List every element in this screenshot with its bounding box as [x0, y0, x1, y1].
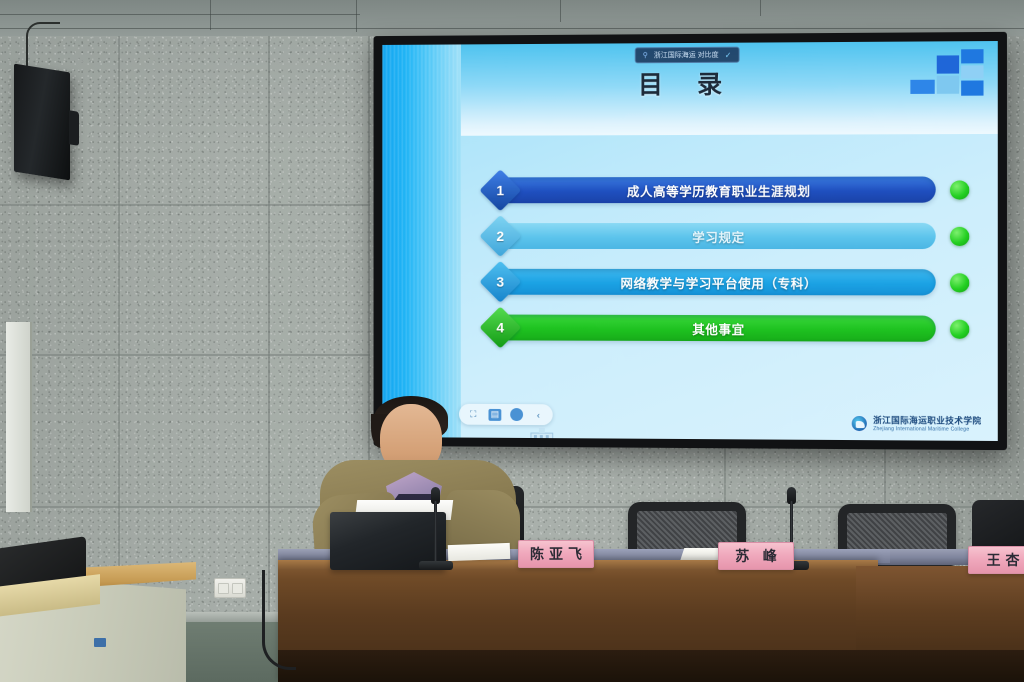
- toc-label: 学习规定: [692, 226, 744, 245]
- toc-bar[interactable]: 学习规定: [504, 223, 935, 249]
- projection-screen[interactable]: ⚲ 浙江国际海运 对比度 ✓ 目 录 1 成人高等学历教育职业生涯规划: [374, 32, 1007, 450]
- green-dot-icon: [950, 226, 969, 245]
- college-logo-mark: [851, 414, 868, 431]
- green-dot-icon: [950, 180, 969, 199]
- slide-canvas: ⚲ 浙江国际海运 对比度 ✓ 目 录 1 成人高等学历教育职业生涯规划: [382, 41, 997, 441]
- placard-wang-xing: 王杏: [968, 546, 1024, 574]
- placard-su-feng: 苏 峰: [718, 542, 794, 570]
- toc-number: 4: [496, 320, 504, 336]
- ship-icon: [522, 426, 562, 441]
- placard-chen-yafei: 陈亚飞: [518, 540, 594, 568]
- lectern: [0, 556, 198, 682]
- slide-left-band: [382, 44, 461, 437]
- toc-item-4[interactable]: 4 其他事宜: [486, 311, 970, 346]
- socket-outlet: [232, 583, 243, 594]
- toc-label: 网络教学与学习平台使用（专科）: [620, 272, 817, 291]
- ppt-top-toolbar[interactable]: ⚲ 浙江国际海运 对比度 ✓: [635, 47, 740, 64]
- ppt-toolbar-label: 浙江国际海运 对比度: [654, 50, 719, 60]
- toc-number: 2: [496, 228, 504, 244]
- toc-number-badge: 1: [479, 169, 521, 211]
- toc-label: 其他事宜: [692, 319, 744, 338]
- toc-number-badge: 2: [479, 215, 521, 257]
- college-name-cn: 浙江国际海运职业技术学院: [873, 414, 981, 427]
- toc-bar[interactable]: 网络教学与学习平台使用（专科）: [504, 269, 935, 296]
- whiteboard-edge: [6, 322, 32, 512]
- toc-item-1[interactable]: 1 成人高等学历教育职业生涯规划: [486, 172, 970, 207]
- toc-item-3[interactable]: 3 网络教学与学习平台使用（专科）: [486, 265, 970, 300]
- table-front-panel: [278, 650, 1024, 682]
- cable: [262, 570, 296, 670]
- toc-bar[interactable]: 成人高等学历教育职业生涯规划: [504, 176, 935, 203]
- green-dot-icon: [950, 319, 969, 338]
- power-socket[interactable]: [214, 578, 246, 598]
- conference-room-scene: ⚲ 浙江国际海运 对比度 ✓ 目 录 1 成人高等学历教育职业生涯规划: [0, 0, 1024, 682]
- microphone-base: [419, 561, 453, 570]
- lectern-badge: [94, 638, 106, 647]
- check-icon[interactable]: ✓: [725, 50, 732, 59]
- microphone-neck: [434, 501, 437, 563]
- toc-number: 3: [496, 274, 504, 290]
- placard-name: 陈亚飞: [525, 544, 587, 564]
- college-logo: 浙江国际海运职业技术学院 Zhejiang International Mari…: [851, 414, 982, 433]
- college-name-en: Zhejiang International Maritime College: [873, 426, 981, 433]
- slide-title: 目 录: [382, 63, 997, 102]
- toc-label: 成人高等学历教育职业生涯规划: [627, 180, 811, 199]
- toc-number-badge: 3: [479, 261, 521, 303]
- chevron-left-icon[interactable]: ‹: [532, 409, 545, 421]
- green-dot-icon: [950, 273, 969, 292]
- toc-number: 1: [496, 182, 504, 198]
- placard-name: 苏 峰: [730, 546, 782, 566]
- pin-icon: ⚲: [643, 51, 648, 59]
- printed-papers: [448, 543, 511, 561]
- toc-item-2[interactable]: 2 学习规定: [486, 219, 970, 253]
- table-of-contents: 1 成人高等学历教育职业生涯规划 2 学习规定: [486, 172, 970, 358]
- wall-speaker: [14, 64, 70, 181]
- socket-outlet: [218, 583, 229, 594]
- toc-bar[interactable]: 其他事宜: [504, 315, 935, 342]
- toc-number-badge: 4: [479, 306, 521, 348]
- placard-name: 王杏: [982, 550, 1024, 570]
